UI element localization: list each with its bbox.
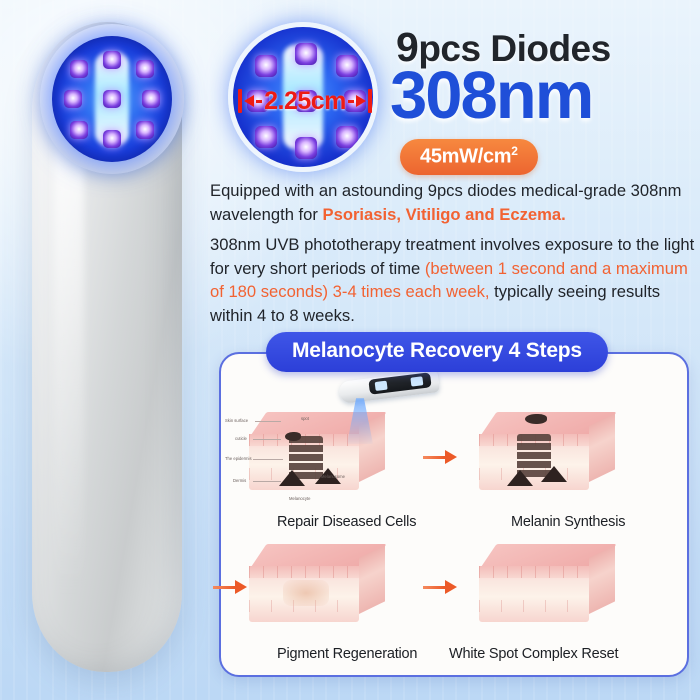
melanocyte-marker <box>507 470 533 486</box>
step-caption-4: White Spot Complex Reset <box>449 646 618 662</box>
measure-cap-left <box>238 89 242 113</box>
diode <box>103 51 121 69</box>
diode <box>255 126 277 148</box>
measure-bar-left <box>256 100 262 103</box>
device-lens <box>52 36 172 162</box>
intensity-badge: 45mW/cm2 <box>400 139 538 175</box>
skin-epidermis-layer <box>249 566 359 578</box>
diode <box>103 90 121 108</box>
measure-arrow-left-icon <box>244 95 254 107</box>
handheld-device-illustration <box>339 368 439 406</box>
card-title-banner: Melanocyte Recovery 4 Steps <box>266 332 608 372</box>
intensity-superscript: 2 <box>511 144 517 158</box>
flow-arrow-1-icon <box>423 450 457 464</box>
skin-side-face <box>589 413 615 482</box>
diode <box>70 60 88 78</box>
pigment-regeneration-area <box>283 580 329 606</box>
melanin-blob <box>285 432 301 441</box>
melanin-blob <box>525 414 547 424</box>
diode <box>136 121 154 139</box>
step-caption-1: Repair Diseased Cells <box>277 514 416 530</box>
diode <box>295 137 317 159</box>
diode <box>64 90 82 108</box>
step-caption-3: Pigment Regeneration <box>277 646 417 662</box>
diode <box>295 43 317 65</box>
diode <box>103 130 121 148</box>
diagram-label-cuticle: cuticle <box>235 436 247 441</box>
label-leader-line <box>255 421 281 422</box>
measure-bar-right <box>348 100 354 103</box>
skin-epidermis-layer <box>479 566 589 578</box>
step-caption-2: Melanin Synthesis <box>511 514 625 530</box>
skin-side-face <box>589 545 615 614</box>
recovery-steps-card: Skin surface cuticle The epidermis Dermi… <box>219 352 689 677</box>
diagram-label-melanosome: Melanosome <box>321 474 345 479</box>
measure-arrow-right-icon <box>356 95 366 107</box>
flow-arrow-2-icon <box>213 580 247 594</box>
arrow-head <box>235 580 247 594</box>
diode <box>336 126 358 148</box>
display-indicator-icon <box>375 381 388 391</box>
device-head <box>40 24 184 174</box>
arrow-shaft <box>213 586 235 589</box>
skin-dermis-boundary <box>479 600 589 612</box>
description-paragraph-1: Equipped with an astounding 9pcs diodes … <box>210 179 695 226</box>
diagram-label-dermis: Dermis <box>233 478 246 483</box>
intensity-value: 45mW/cm <box>420 146 511 168</box>
melanocyte-marker <box>541 466 567 482</box>
arrow-shaft <box>423 586 445 589</box>
diode <box>336 55 358 77</box>
wavelength-title: 308nm <box>390 62 592 129</box>
skin-diagram-3 <box>249 544 385 622</box>
skin-diagram-4 <box>479 544 615 622</box>
measure-cap-right <box>368 89 372 113</box>
diode <box>255 55 277 77</box>
device-illustration <box>18 14 198 674</box>
diagram-label-epidermis: The epidermis <box>225 456 252 461</box>
skin-diagram-2 <box>479 412 615 490</box>
diagram-label-spot: spot <box>301 416 309 421</box>
flow-arrow-3-icon <box>423 580 457 594</box>
measure-value: 2.25cm <box>264 87 346 116</box>
label-leader-line <box>253 439 281 440</box>
melanocyte-marker <box>279 470 305 486</box>
skin-side-face <box>359 545 385 614</box>
p1-highlight: Psoriasis, Vitiligo and Eczema. <box>323 205 566 224</box>
arrow-head <box>445 450 457 464</box>
diode <box>136 60 154 78</box>
diagram-label-skin-surface: Skin surface <box>225 418 248 423</box>
label-leader-line <box>253 459 283 460</box>
diode <box>70 121 88 139</box>
diode <box>142 90 160 108</box>
display-indicator-icon <box>410 376 423 386</box>
diameter-measurement: 2.25cm <box>219 88 391 114</box>
arrow-head <box>445 580 457 594</box>
diagram-label-melanocyte: Melanocyte <box>289 496 310 501</box>
description-paragraph-2: 308nm UVB phototherapy treatment involve… <box>210 233 695 327</box>
arrow-shaft <box>423 456 445 459</box>
label-leader-line <box>253 481 281 482</box>
